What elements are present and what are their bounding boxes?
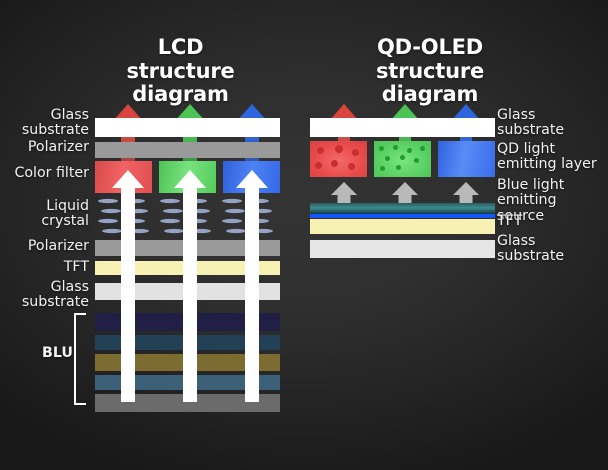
lcd-white-beam-right bbox=[236, 170, 268, 402]
lcd-layer-polarizer-top bbox=[95, 142, 280, 158]
qd-layer-blue-emitting-source bbox=[310, 203, 495, 214]
lcd-white-beam-left bbox=[112, 170, 144, 402]
qd-layer-glass-substrate-top bbox=[310, 118, 495, 137]
qd-cell-green bbox=[374, 141, 431, 177]
label-qd-glass-substrate-bottom: Glass substrate bbox=[497, 234, 564, 265]
label-qd-tft: TFT bbox=[497, 214, 522, 229]
label-lcd-glass-substrate-top: Glass substrate bbox=[22, 108, 89, 139]
label-lcd-polarizer-bottom: Polarizer bbox=[28, 239, 89, 254]
label-qd-light-emitting-layer: QD light emitting layer bbox=[497, 142, 597, 173]
label-qd-glass-substrate-top: Glass substrate bbox=[497, 108, 564, 139]
label-lcd-liquid-crystal: Liquid crystal bbox=[41, 199, 89, 230]
label-lcd-color-filter: Color filter bbox=[14, 166, 89, 181]
lcd-stack bbox=[95, 0, 280, 470]
qd-cell-blue bbox=[438, 141, 495, 177]
lcd-layer-glass-substrate-top bbox=[95, 118, 280, 137]
lcd-white-beam-center bbox=[174, 170, 206, 402]
qd-emitting-cell-row bbox=[310, 141, 495, 177]
blu-bracket bbox=[74, 313, 86, 405]
label-lcd-polarizer-top: Polarizer bbox=[28, 140, 89, 155]
qdoled-stack bbox=[310, 0, 495, 470]
qd-layer-blue-emitting-line bbox=[310, 214, 495, 218]
label-lcd-glass-substrate-bottom: Glass substrate bbox=[22, 280, 89, 311]
qd-layer-glass-substrate-bottom bbox=[310, 240, 495, 258]
label-lcd-blu: BLU bbox=[42, 345, 73, 361]
diagram-canvas: LCD structure diagram QD-OLED structure … bbox=[0, 0, 608, 470]
label-lcd-tft: TFT bbox=[64, 260, 89, 275]
qd-layer-tft bbox=[310, 219, 495, 234]
qd-cell-red bbox=[310, 141, 367, 177]
